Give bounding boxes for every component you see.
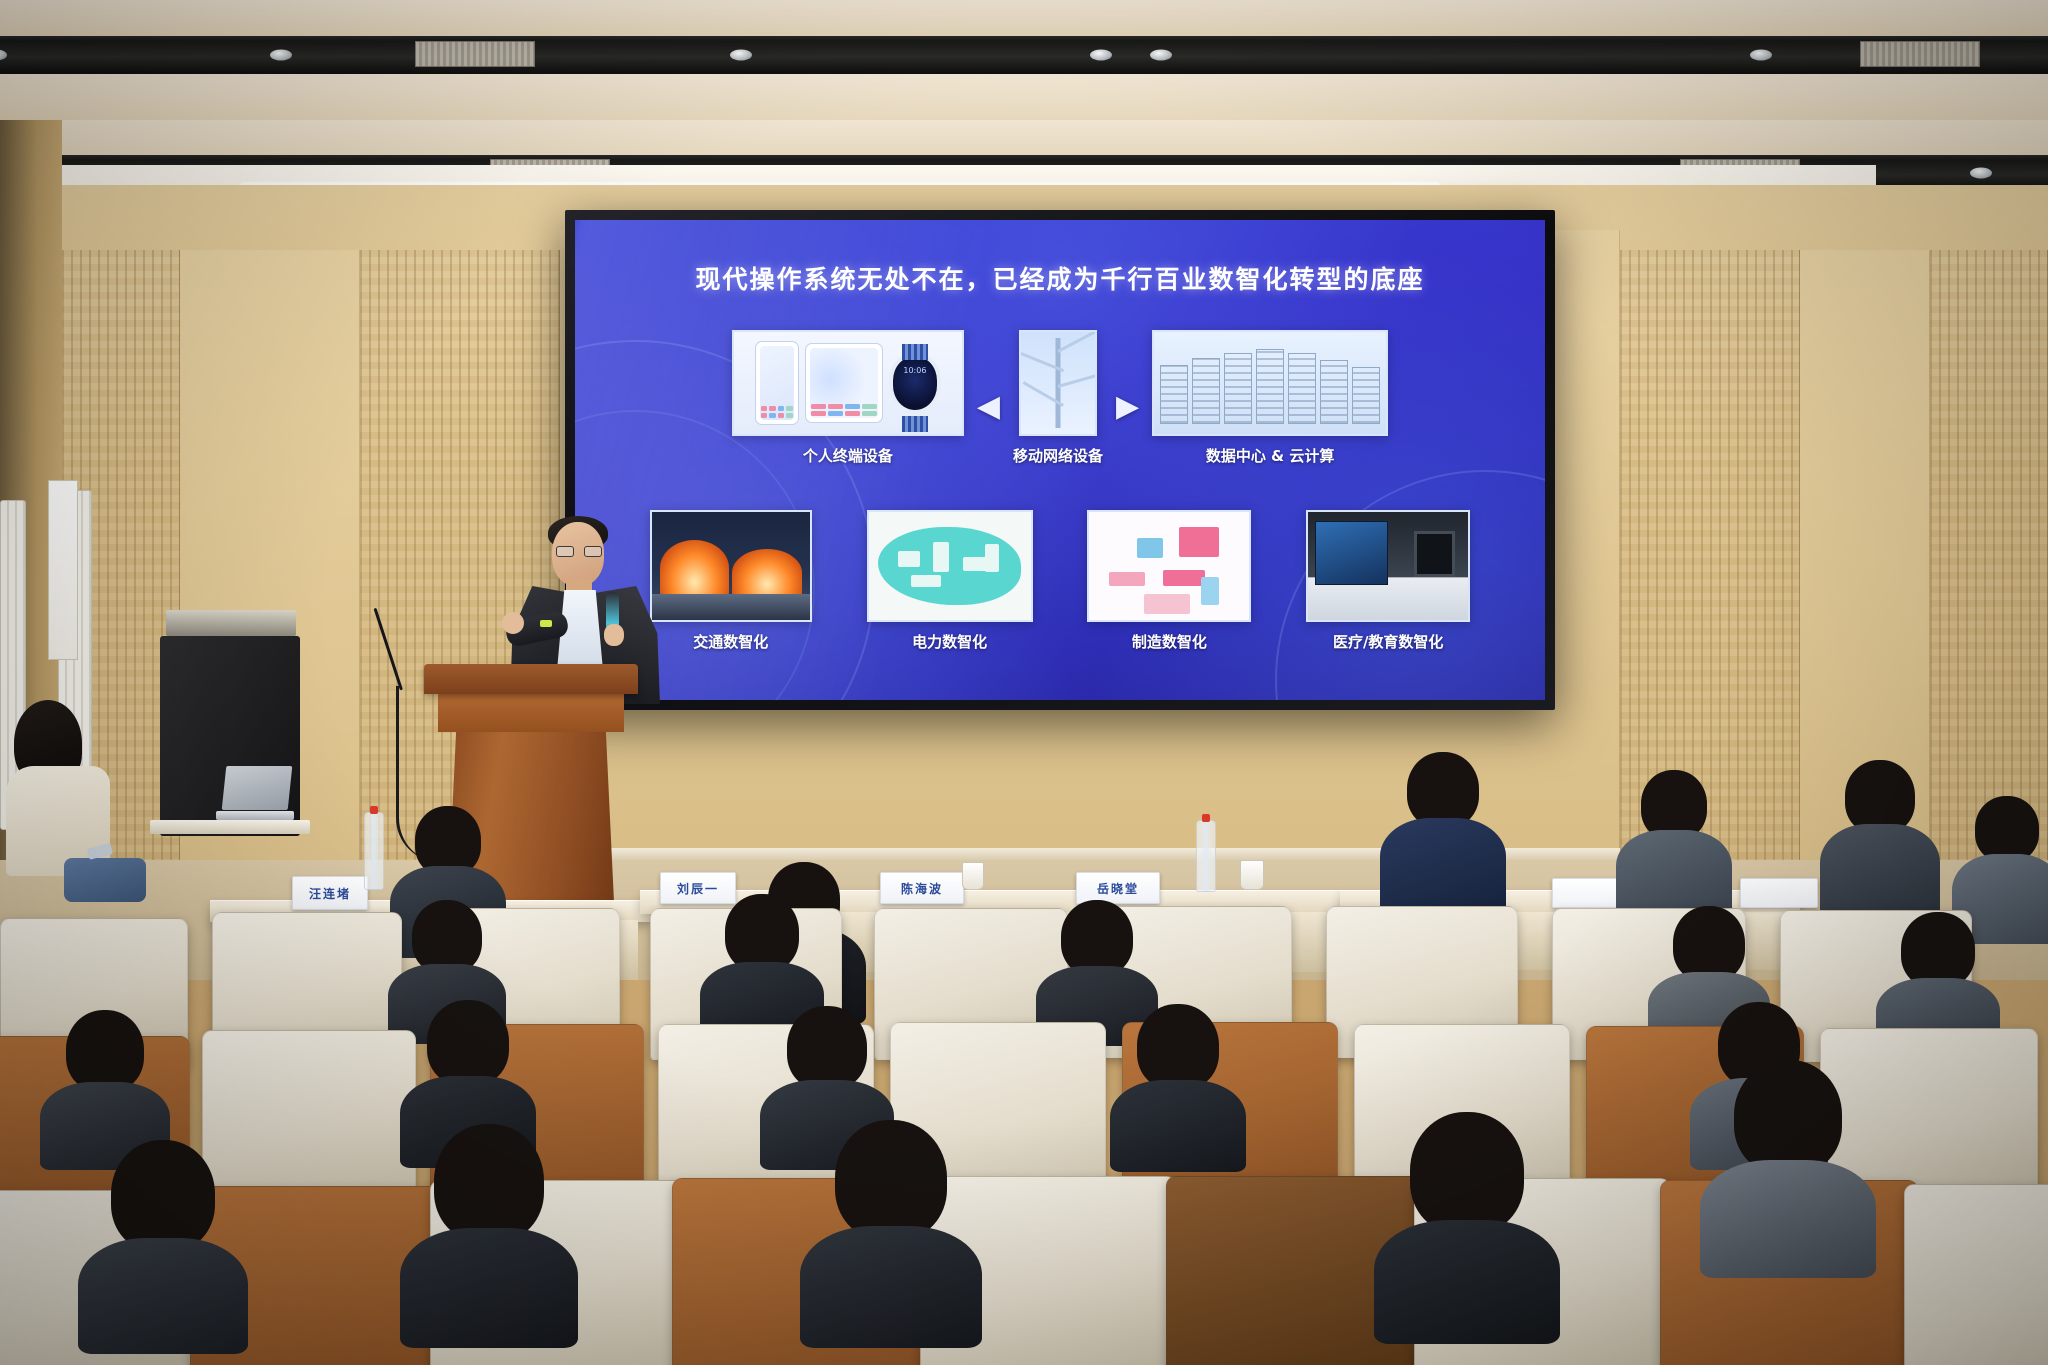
name-card [1740,878,1818,908]
slide-title: 现代操作系统无处不在，已经成为千行百业数智化转型的底座 [575,260,1545,296]
slide-caption: 电力数智化 [912,631,987,652]
audience-member [1374,1112,1560,1330]
thumb-personal-devices: 10:06 [732,330,964,436]
wall-panel [180,250,360,950]
thumb-manufacturing [1087,510,1251,622]
audience-member [400,1124,578,1334]
slide-tile-power: 电力数智化 [867,510,1033,652]
name-card-text: 陈海波 [901,880,943,897]
name-card-text: 汪连堵 [309,885,351,902]
ceiling-service-strip [0,36,2048,74]
slide-caption: 个人终端设备 [803,445,893,466]
audience-member [800,1120,982,1334]
name-card: 陈海波 [880,872,964,904]
slide-bottom-row: 交通数智化 电力数智化 [595,510,1525,652]
slide-tile-datacenter: 数据中心 & 云计算 [1152,330,1388,466]
thumb-datacenter [1152,330,1388,436]
audience-member [78,1140,248,1340]
water-bottle [364,812,384,890]
wall-notice [48,480,78,660]
name-card: 汪连堵 [292,876,368,910]
slide-tile-mobile-network: 移动网络设备 [1013,330,1103,466]
presenter-hand-mic [604,624,624,646]
thumb-smartwatch: 10:06 [889,352,941,414]
thumb-cell-tower [1019,330,1097,436]
paper-cup [962,862,984,890]
audience-member [1820,760,1940,910]
operator-desk [150,820,310,834]
slide-tile-medical-education: 医疗/教育数智化 [1306,510,1470,652]
slide-tile-personal-devices: 10:06 个人终端设备 [732,330,964,466]
lanyard-badge [540,620,552,627]
thumb-medical-education [1306,510,1470,622]
water-bottle [1196,820,1216,892]
presentation-screen: 现代操作系统无处不在，已经成为千行百业数智化转型的底座 [575,220,1545,700]
ceiling-panel [0,0,2048,36]
slide-tile-transport: 交通数智化 [650,510,812,652]
audience-member [1876,912,2000,1038]
thumb-transport [650,510,812,622]
audience-member [1380,752,1506,902]
seated-attendee-left [6,700,136,900]
audience-member [1110,1004,1246,1150]
led-screen-bezel: 现代操作系统无处不在，已经成为千行百业数智化转型的底座 [565,210,1555,710]
name-card-text: 岳晓堂 [1097,880,1139,897]
glasses-icon [556,546,602,557]
paper-cup [1240,860,1264,890]
slide-caption: 医疗/教育数智化 [1333,631,1443,652]
auditorium-seat [1904,1184,2048,1365]
slide-caption: 数据中心 & 云计算 [1206,445,1335,466]
slide-top-row: 10:06 个人终端设备 ◀ [625,330,1495,466]
arrow-left-icon: ◀ [977,389,1000,424]
slide-tile-manufacturing: 制造数智化 [1087,510,1251,652]
slide-caption: 交通数智化 [693,631,768,652]
audience-member [1616,770,1732,910]
audience-member [1700,1060,1876,1260]
ceiling-panel [0,74,2048,120]
operator-laptop [216,766,290,820]
slide-caption: 制造数智化 [1132,631,1207,652]
slide-caption: 移动网络设备 [1013,445,1103,466]
presenter-hand-gesture [502,612,524,634]
arrow-right-icon: ▶ [1116,389,1139,424]
thumb-power [867,510,1033,622]
conference-hall-photo: 现代操作系统无处不在，已经成为千行百业数智化转型的底座 [0,0,2048,1365]
audience-member [40,1010,170,1150]
audience-member [700,894,824,1020]
